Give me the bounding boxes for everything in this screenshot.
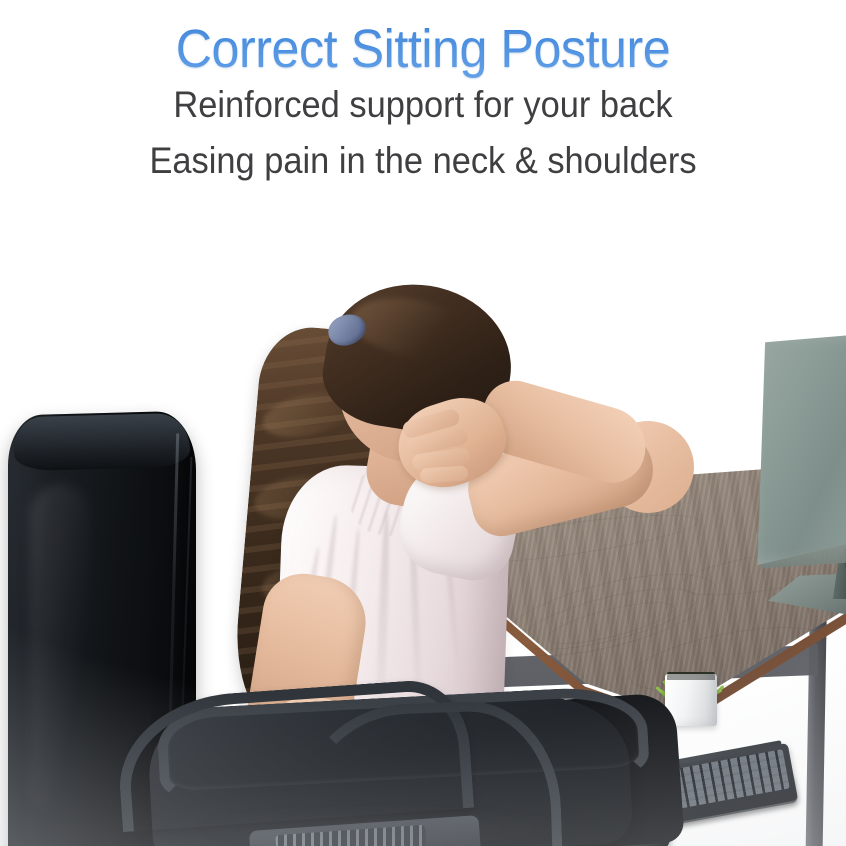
floor-shadow bbox=[120, 805, 640, 846]
subtitle-line-2: Easing pain in the neck & shoulders bbox=[30, 140, 817, 182]
subtitle-line-1: Reinforced support for your back bbox=[30, 84, 817, 126]
product-photo bbox=[0, 205, 846, 846]
headline-block: Correct Sitting Posture Reinforced suppo… bbox=[0, 0, 846, 182]
poster: Correct Sitting Posture Reinforced suppo… bbox=[0, 0, 846, 846]
page-title: Correct Sitting Posture bbox=[30, 0, 817, 78]
monitor-screen bbox=[750, 333, 846, 565]
computer-monitor bbox=[740, 333, 846, 633]
chair-highlight bbox=[30, 483, 90, 815]
